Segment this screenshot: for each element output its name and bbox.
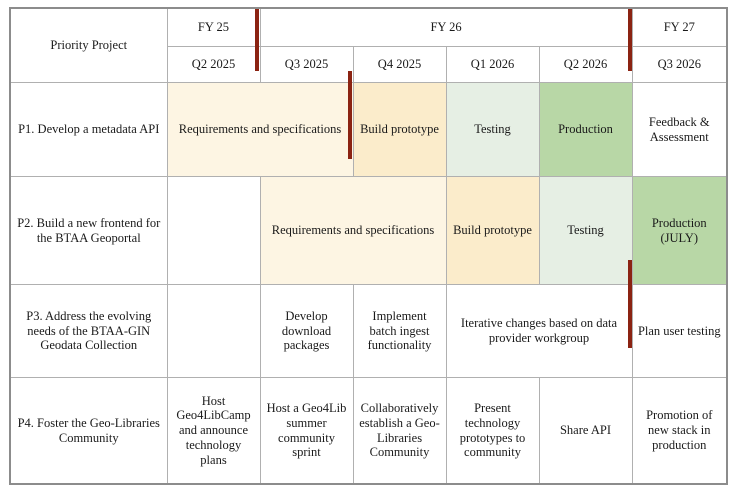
fiscal-year-divider-fy25-fy26	[255, 9, 259, 71]
task-cell-p4-collaboratively-establish-community[interactable]: Collaboratively establish a Geo-Librarie…	[353, 378, 446, 485]
task-cell-p1-requirements[interactable]: Requirements and specifications	[167, 83, 353, 177]
table-row-p4: P4. Foster the Geo-Libraries Community H…	[10, 378, 727, 485]
task-cell-p4-host-geo4libcamp[interactable]: Host Geo4LibCamp and announce technology…	[167, 378, 260, 485]
project-label-p3: P3. Address the evolving needs of the BT…	[10, 285, 167, 378]
task-cell-p2-empty[interactable]	[167, 177, 260, 285]
task-cell-p2-requirements[interactable]: Requirements and specifications	[260, 177, 446, 285]
task-cell-p4-promotion-new-stack[interactable]: Promotion of new stack in production	[632, 378, 727, 485]
project-label-p4: P4. Foster the Geo-Libraries Community	[10, 378, 167, 485]
phase-divider-p3-workgroup-plan-testing	[628, 260, 632, 348]
roadmap-container: Priority Project FY 25 FY 26 FY 27 Q2 20…	[0, 0, 736, 455]
project-label-p2: P2. Build a new frontend for the BTAA Ge…	[10, 177, 167, 285]
phase-divider-p1-requirements-prototype	[348, 71, 352, 159]
task-cell-p2-testing[interactable]: Testing	[539, 177, 632, 285]
quarter-header-q3-2025: Q3 2025	[260, 47, 353, 83]
task-cell-p4-present-technology-prototypes[interactable]: Present technology prototypes to communi…	[446, 378, 539, 485]
fiscal-year-header-fy25: FY 25	[167, 8, 260, 47]
fiscal-year-header-fy26: FY 26	[260, 8, 632, 47]
priority-project-roadmap-table: Priority Project FY 25 FY 26 FY 27 Q2 20…	[9, 7, 728, 485]
task-cell-p1-production[interactable]: Production	[539, 83, 632, 177]
table-row-p1: P1. Develop a metadata API Requirements …	[10, 83, 727, 177]
table-row-p3: P3. Address the evolving needs of the BT…	[10, 285, 727, 378]
project-label-p1: P1. Develop a metadata API	[10, 83, 167, 177]
fiscal-year-header-fy27: FY 27	[632, 8, 727, 47]
task-cell-p1-build-prototype[interactable]: Build prototype	[353, 83, 446, 177]
task-cell-p2-build-prototype[interactable]: Build prototype	[446, 177, 539, 285]
quarter-header-q2-2025: Q2 2025	[167, 47, 260, 83]
task-cell-p3-iterative-changes[interactable]: Iterative changes based on data provider…	[446, 285, 632, 378]
task-cell-p4-host-geo4lib-summer-sprint[interactable]: Host a Geo4Lib summer community sprint	[260, 378, 353, 485]
fiscal-year-divider-fy26-fy27	[628, 9, 632, 71]
quarter-header-q4-2025: Q4 2025	[353, 47, 446, 83]
table-header: Priority Project FY 25 FY 26 FY 27 Q2 20…	[10, 8, 727, 83]
task-cell-p1-testing[interactable]: Testing	[446, 83, 539, 177]
task-cell-p1-feedback-assessment[interactable]: Feedback & Assessment	[632, 83, 727, 177]
quarter-header-q2-2026: Q2 2026	[539, 47, 632, 83]
task-cell-p3-develop-download-packages[interactable]: Develop download packages	[260, 285, 353, 378]
task-cell-p2-production-july[interactable]: Production (JULY)	[632, 177, 727, 285]
quarter-header-q1-2026: Q1 2026	[446, 47, 539, 83]
quarter-header-q3-2026: Q3 2026	[632, 47, 727, 83]
task-cell-p3-plan-user-testing[interactable]: Plan user testing	[632, 285, 727, 378]
table-body: P1. Develop a metadata API Requirements …	[10, 83, 727, 485]
task-cell-p3-implement-batch-ingest[interactable]: Implement batch ingest functionality	[353, 285, 446, 378]
task-cell-p4-share-api[interactable]: Share API	[539, 378, 632, 485]
header-row-fiscal-year: Priority Project FY 25 FY 26 FY 27	[10, 8, 727, 47]
task-cell-p3-empty[interactable]	[167, 285, 260, 378]
column-header-priority-project: Priority Project	[10, 8, 167, 83]
table-row-p2: P2. Build a new frontend for the BTAA Ge…	[10, 177, 727, 285]
